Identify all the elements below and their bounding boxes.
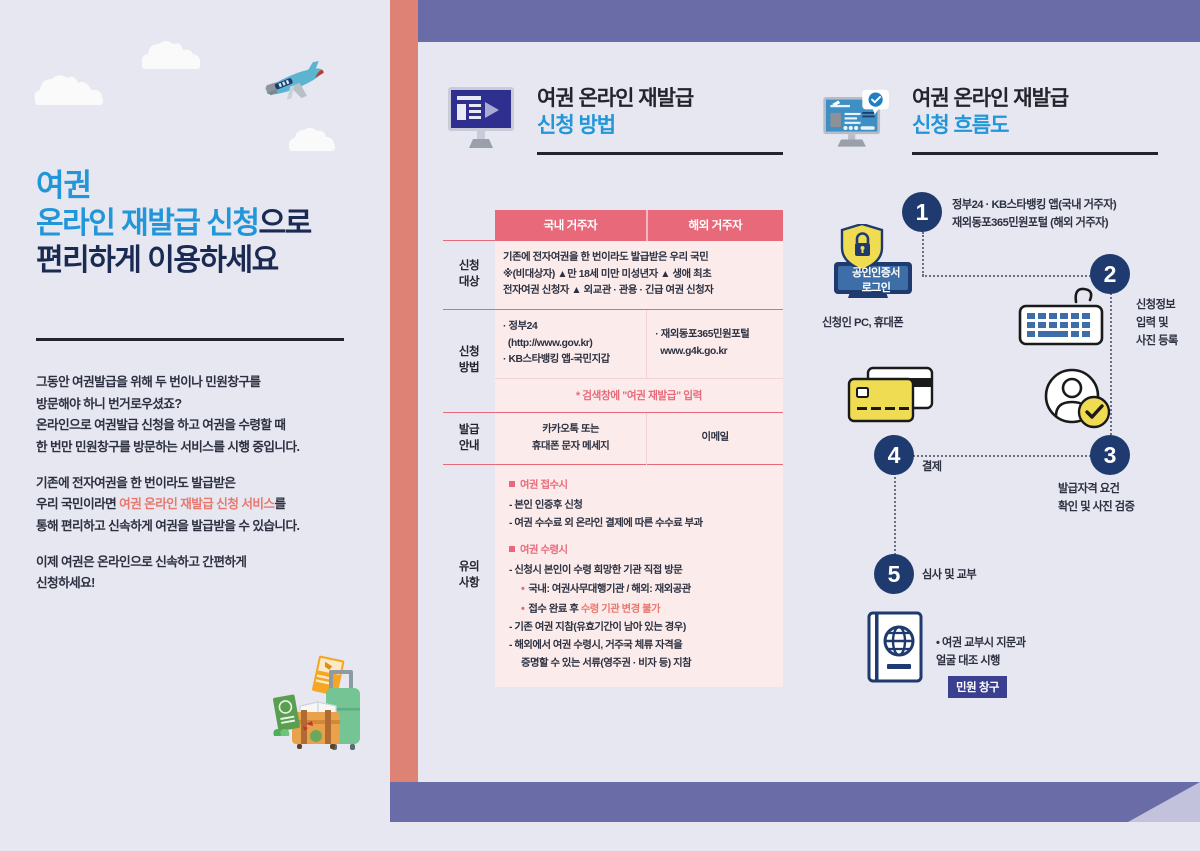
method-search-note: * 검색창에 "여권 재발급" 입력 [495, 379, 783, 413]
bullet-square-icon-2 [509, 546, 515, 552]
step-1-caption: 신청인 PC, 휴대폰 [822, 314, 962, 332]
notice-domestic: 카카오톡 또는휴대폰 문자 메세지 [495, 413, 647, 465]
application-flow-diagram: 1 정부24 · KB스타뱅킹 앱(국내 거주자)재외동포365민원포털 (해외… [818, 190, 1200, 810]
status-badge-minwon: 민원 창구 [948, 676, 1007, 698]
headline-line-2-blue: 온라인 재발급 신청 [36, 207, 258, 240]
step-3-number: 3 [1090, 435, 1130, 475]
intro-paragraph-1: 그동안 여권발급을 위해 두 번이나 민원창구를방문해야 하니 번거로우셨죠?온… [36, 372, 366, 459]
row-label-cautions: 유의사항 [443, 465, 495, 687]
cautions-spacer [509, 533, 773, 542]
headline-line-1: 여권 [36, 168, 366, 205]
airplane-icon [258, 52, 328, 108]
credit-card-icon [846, 365, 940, 429]
right-header-titles: 여권 온라인 재발급 신청 흐름도 [912, 86, 1068, 140]
caution-subitem-2-pre: 접수 완료 후 [528, 604, 580, 615]
intro-body-copy: 그동안 여권발급을 위해 두 번이나 민원창구를방문해야 하니 번거로우셨죠?온… [36, 372, 366, 595]
connector-3-to-4 [894, 455, 1110, 457]
column-header-overseas: 해외 거주자 [647, 210, 783, 241]
table-row-eligibility: 신청대상 기존에 전자여권을 한 번이라도 발급받은 우리 국민※(비대상자) … [443, 241, 783, 310]
caution-item-1b: - 여권 수수료 외 온라인 결제에 따른 수수료 부과 [509, 515, 773, 533]
cloud-icon-3 [286, 126, 344, 152]
step-4-number: 4 [874, 435, 914, 475]
caution-subitem-1: 국내: 여권사무대행기관 / 해외: 재외공관 [509, 580, 773, 599]
step-2-label: 신청정보입력 및사진 등록 [1136, 296, 1200, 350]
cloud-icon-1 [30, 70, 116, 106]
caution-item-2b: - 기존 여권 지참(유효기간이 남아 있는 경우) [509, 619, 773, 637]
middle-header-titles: 여권 온라인 재발급 신청 방법 [537, 86, 693, 140]
caution-item-2d: 증명할 수 있는 서류(영주권 · 비자 등) 지참 [509, 655, 773, 673]
headline-divider [36, 338, 344, 341]
middle-header-title: 여권 온라인 재발급 [537, 86, 693, 113]
headline-line-3: 편리하게 이용하세요 [36, 242, 366, 280]
cloud-icon-2 [138, 38, 210, 70]
vertical-salmon-band [390, 0, 418, 810]
cautions-heading-1-text: 여권 접수시 [520, 480, 568, 491]
step-1-label: 정부24 · KB스타뱅킹 앱(국내 거주자)재외동포365민원포털 (해외 거… [952, 196, 1200, 232]
top-purple-band [418, 0, 1200, 42]
headline-line-2: 온라인 재발급 신청으로 [36, 205, 366, 243]
bullet-square-icon-1 [509, 481, 515, 487]
notice-overseas: 이메일 [647, 413, 783, 465]
monitor-play-icon [443, 84, 521, 156]
table-header-row: 국내 거주자 해외 거주자 [443, 210, 783, 241]
step-5-note: • 여권 교부시 지문과얼굴 대조 시행 [936, 634, 1116, 670]
step-5-label: 심사 및 교부 [922, 566, 1062, 584]
infographic-page: 여권 온라인 재발급 신청으로 편리하게 이용하세요 그동안 여권발급을 위해 … [0, 0, 1200, 851]
connector-1-to-2 [922, 275, 1110, 277]
page-title: 여권 온라인 재발급 신청으로 편리하게 이용하세요 [36, 168, 366, 280]
row-label-method: 신청방법 [443, 310, 495, 413]
step-1-icon-text: 공인인증서로그인 [838, 266, 914, 296]
luggage-illustration [272, 650, 380, 752]
row-label-eligibility: 신청대상 [443, 241, 495, 310]
method-domestic: · 정부24 (http://www.gov.kr)· KB스타뱅킹 앱-국민지… [495, 310, 647, 379]
caution-item-2c: - 해외에서 여권 수령시, 거주국 체류 자격을 [509, 637, 773, 655]
method-overseas: · 재외동포365민원포털 www.g4k.go.kr [647, 310, 783, 379]
keyboard-icon [1018, 286, 1114, 348]
column-header-domestic: 국내 거주자 [495, 210, 647, 241]
caution-subitem-2: 접수 완료 후 수령 기관 변경 불가 [509, 600, 773, 619]
table-row-method: 신청방법 · 정부24 (http://www.gov.kr)· KB스타뱅킹 … [443, 310, 783, 379]
eligibility-content: 기존에 전자여권을 한 번이라도 발급받은 우리 국민※(비대상자) ▲만 18… [495, 241, 783, 310]
step-4-label: 결제 [922, 458, 992, 476]
user-verified-icon [1038, 368, 1116, 430]
cautions-heading-2: 여권 수령시 [509, 542, 773, 560]
passport-globe-icon [866, 610, 924, 684]
step-5-note-text: 여권 교부시 지문과얼굴 대조 시행 [936, 637, 1026, 667]
cautions-heading-2-text: 여권 수령시 [520, 545, 568, 556]
left-intro-panel: 여권 온라인 재발급 신청으로 편리하게 이용하세요 그동안 여권발급을 위해 … [0, 0, 390, 851]
laptop-passport-check-icon [818, 84, 896, 156]
right-header-title: 여권 온라인 재발급 [912, 86, 1068, 113]
caution-subitem-2-red: 수령 기관 변경 불가 [581, 604, 660, 615]
step-5-number: 5 [874, 554, 914, 594]
table-row-cautions: 유의사항 여권 접수시 - 본인 인증후 신청 - 여권 수수료 외 온라인 결… [443, 465, 783, 687]
table-corner-blank [443, 210, 495, 241]
cautions-content: 여권 접수시 - 본인 인증후 신청 - 여권 수수료 외 온라인 결제에 따른… [495, 465, 783, 687]
caution-item-2a: - 신청시 본인이 수령 희망한 기관 직접 방문 [509, 562, 773, 580]
intro-p2-highlight: 여권 온라인 재발급 신청 서비스 [119, 497, 274, 511]
intro-paragraph-2: 기존에 전자여권을 한 번이라도 발급받은우리 국민이라면 여권 온라인 재발급… [36, 473, 366, 538]
cautions-heading-1: 여권 접수시 [509, 477, 773, 495]
application-method-table: 국내 거주자 해외 거주자 신청대상 기존에 전자여권을 한 번이라도 발급받은… [443, 210, 783, 687]
middle-header-subtitle: 신청 방법 [537, 113, 693, 140]
row-label-notice: 발급안내 [443, 413, 495, 465]
step-3-label: 발급자격 요건확인 및 사진 검증 [1058, 480, 1200, 516]
table-row-notice: 발급안내 카카오톡 또는휴대폰 문자 메세지 이메일 [443, 413, 783, 465]
caution-item-1a: - 본인 인증후 신청 [509, 497, 773, 515]
middle-header-underline [537, 152, 783, 155]
right-header-underline [912, 152, 1158, 155]
right-header-subtitle: 신청 흐름도 [912, 113, 1068, 140]
headline-line-2-navy: 으로 [258, 207, 310, 240]
intro-paragraph-3: 이제 여권은 온라인으로 신속하고 간편하게신청하세요! [36, 552, 366, 595]
